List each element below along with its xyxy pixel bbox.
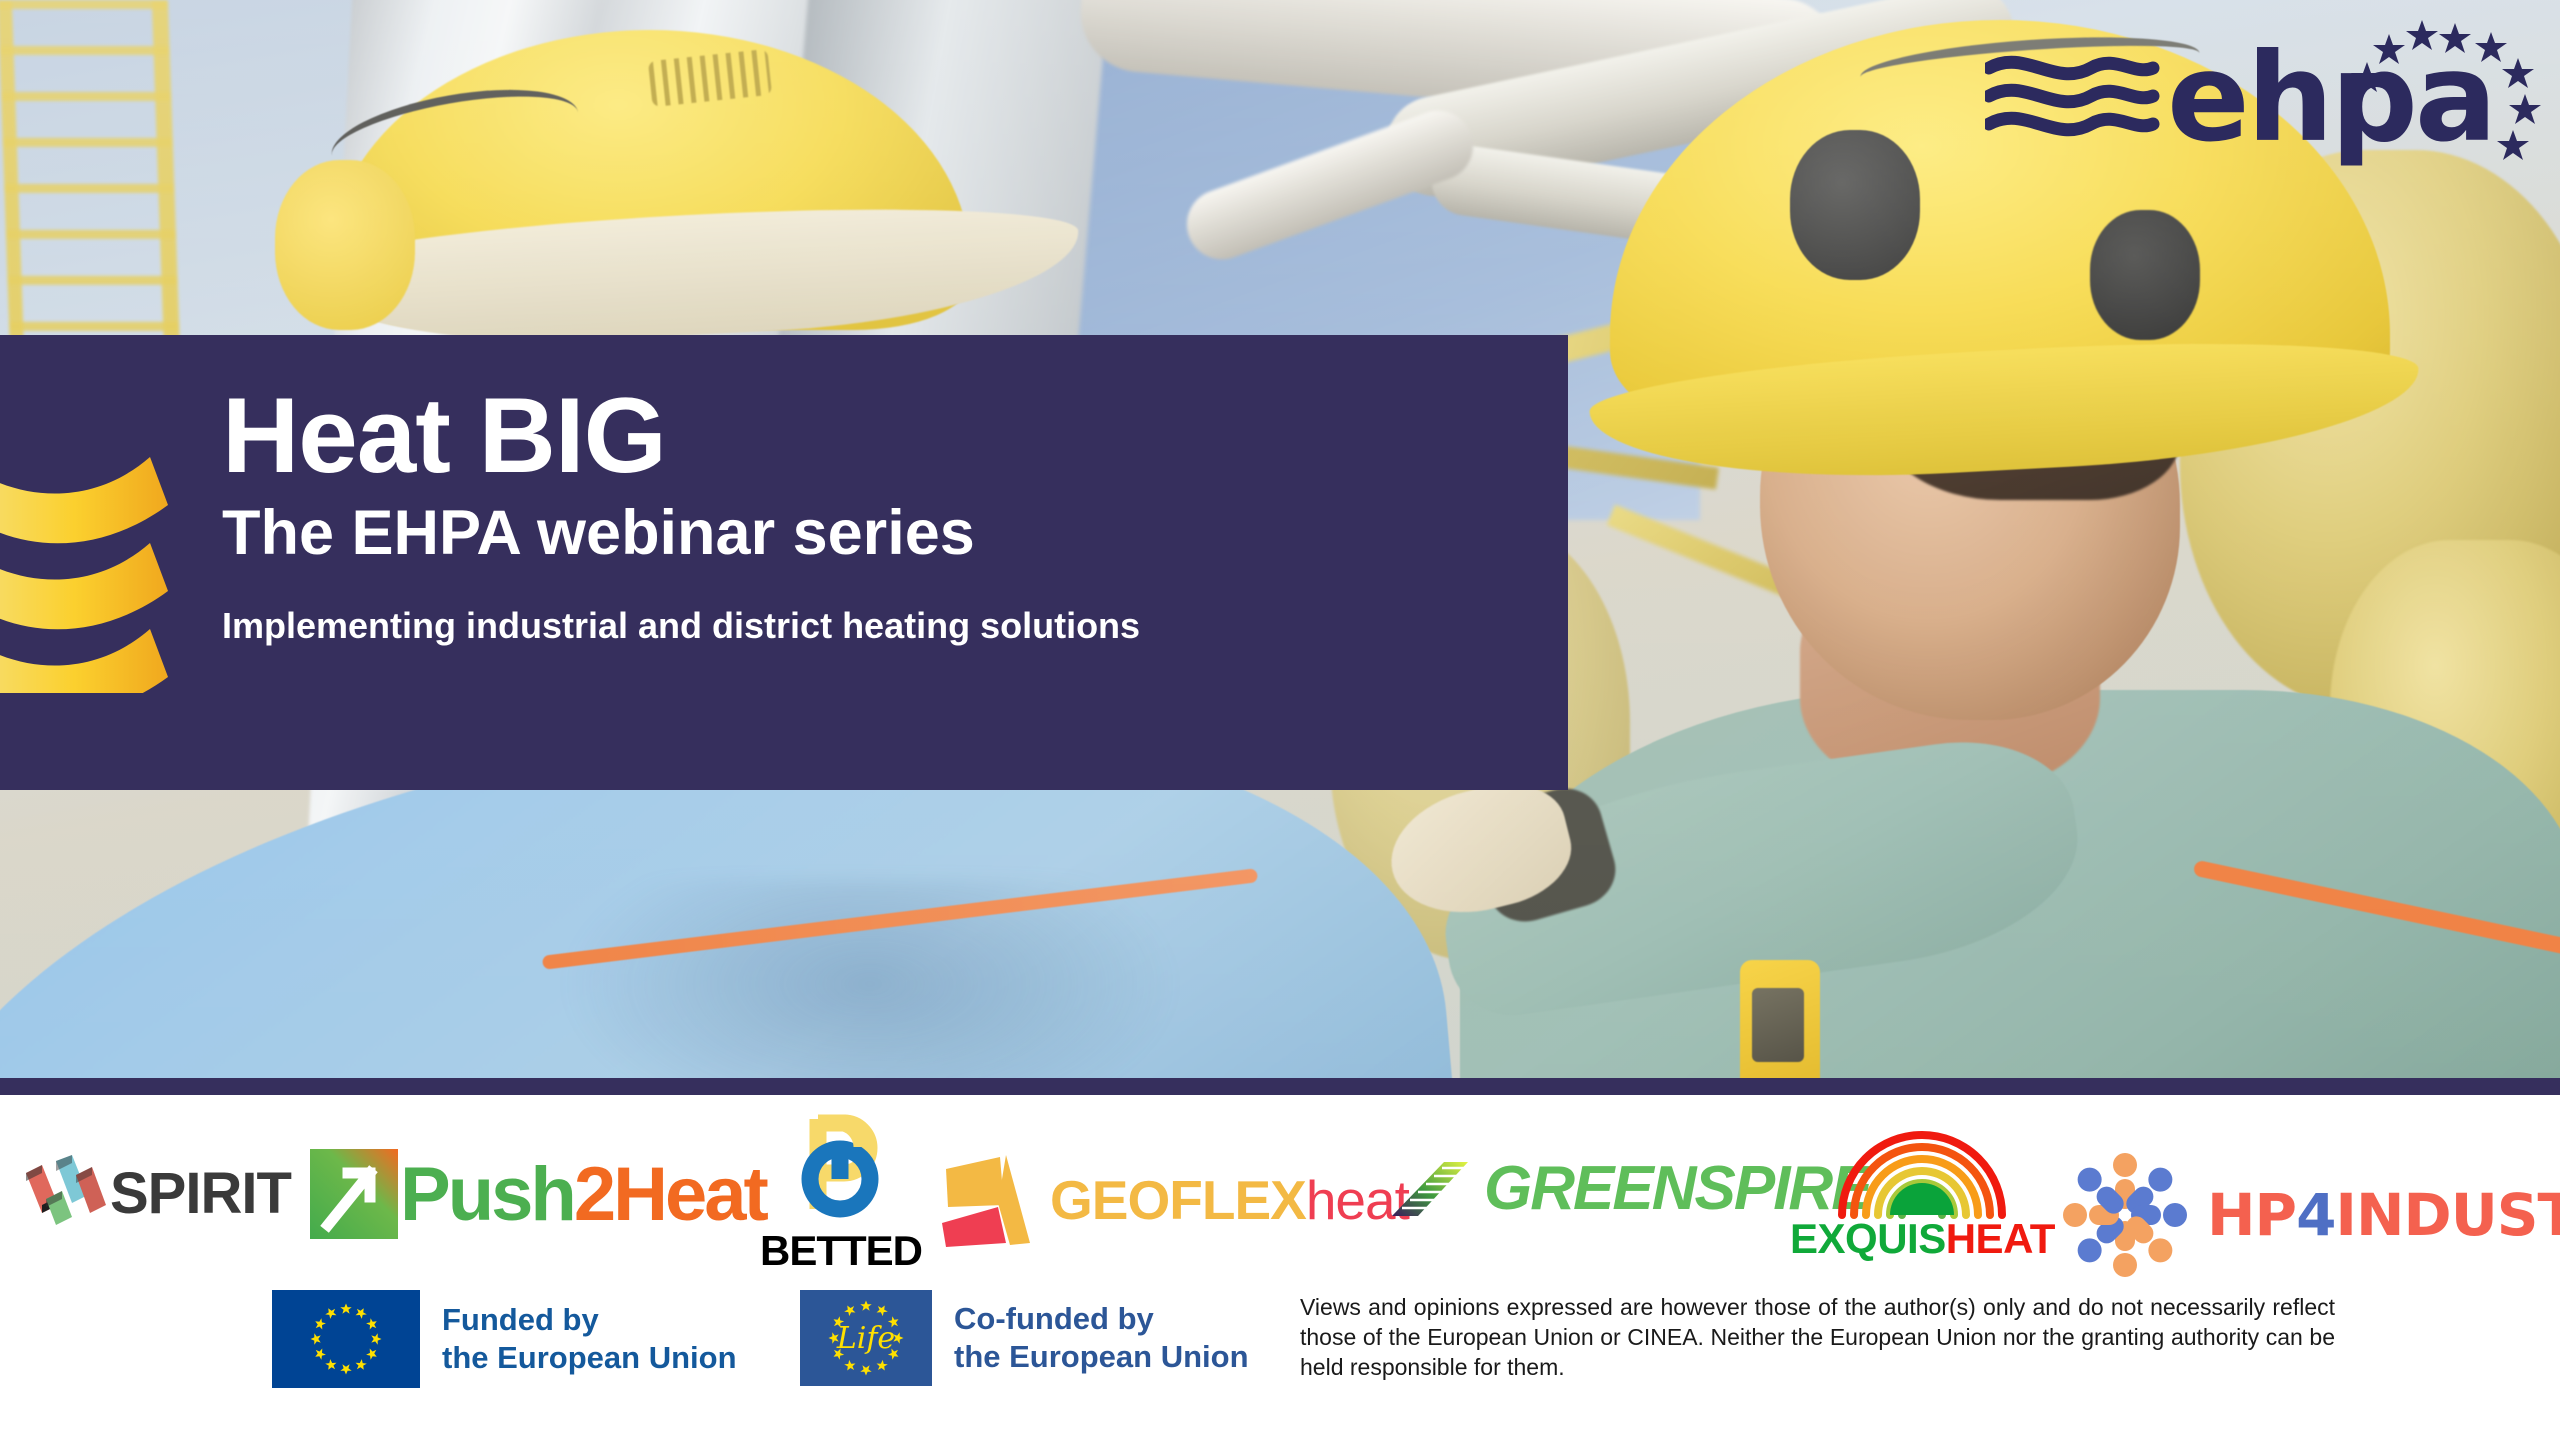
gas-detector-device bbox=[1740, 960, 1820, 1080]
logo-betted[interactable]: BETTED bbox=[760, 1113, 922, 1275]
eu-funded-line1: Funded by bbox=[442, 1301, 737, 1339]
logo-hp4-text-b: 4 bbox=[2296, 1181, 2335, 1249]
push2heat-arrow-icon bbox=[308, 1147, 400, 1241]
ehpa-wordmark: ehpa bbox=[2167, 27, 2494, 168]
eu-disclaimer-text: Views and opinions expressed are however… bbox=[1300, 1293, 2335, 1383]
wave-mark-svg bbox=[0, 443, 185, 693]
ear-muff-back bbox=[2090, 210, 2200, 340]
eu-flag-icon bbox=[272, 1290, 420, 1388]
eu-cofunded-text: Co-funded by the European Union bbox=[954, 1300, 1249, 1376]
page-title: Heat BIG bbox=[222, 381, 1522, 490]
logo-hp4industry[interactable]: HP4INDUSTRY bbox=[2055, 1145, 2560, 1285]
page-subtitle: The EHPA webinar series bbox=[222, 500, 1522, 566]
logo-hp4-text-a: HP bbox=[2207, 1181, 2296, 1249]
eu-funded-badge: Funded by the European Union bbox=[272, 1290, 737, 1388]
geoflex-shape-icon bbox=[940, 1151, 1036, 1249]
partner-logo-strip: SPIRIT Push2Heat bbox=[0, 1105, 2560, 1275]
page-tagline: Implementing industrial and district hea… bbox=[222, 604, 1522, 647]
title-text-group: Heat BIG The EHPA webinar series Impleme… bbox=[222, 381, 1522, 647]
heat-big-wave-mark bbox=[0, 443, 185, 693]
eu-cofunded-badge: Life Co-funded by the European Union bbox=[800, 1290, 1249, 1386]
logo-spirit-text: SPIRIT bbox=[110, 1160, 291, 1227]
footer-separator-bar bbox=[0, 1078, 2560, 1095]
footer: SPIRIT Push2Heat bbox=[0, 1095, 2560, 1440]
title-panel: Heat BIG The EHPA webinar series Impleme… bbox=[0, 335, 1568, 790]
logo-spirit[interactable]: SPIRIT bbox=[18, 1153, 291, 1233]
eu-life-flag-stars: Life bbox=[800, 1290, 932, 1386]
logo-push2heat[interactable]: Push2Heat bbox=[308, 1147, 766, 1241]
ehpa-logo-svg: ehpa bbox=[1985, 18, 2545, 168]
logo-hp4-text-c: INDUSTRY bbox=[2335, 1181, 2560, 1249]
ear-muff-front bbox=[1790, 130, 1920, 280]
hard-hat-left-earmuff bbox=[275, 160, 415, 330]
eu-funded-line2: the European Union bbox=[442, 1339, 737, 1377]
eu-flag-stars bbox=[272, 1290, 420, 1388]
eu-cofunded-line1: Co-funded by bbox=[954, 1300, 1249, 1338]
ehpa-wave-icon bbox=[1989, 62, 2153, 130]
eu-cofunded-line2: the European Union bbox=[954, 1338, 1249, 1376]
logo-push2heat-text-a: Push bbox=[400, 1151, 574, 1238]
eu-life-flag-icon: Life bbox=[800, 1290, 932, 1386]
foreground-shoulder-shading bbox=[560, 880, 1180, 1080]
ehpa-logo[interactable]: ehpa bbox=[1985, 18, 2545, 168]
logo-exquisheat-text-a: EXQUIS bbox=[1790, 1215, 1946, 1263]
betted-b-icon bbox=[788, 1113, 894, 1225]
life-script-word: Life bbox=[836, 1321, 895, 1356]
spirit-blocks-icon bbox=[18, 1153, 110, 1233]
exquisheat-rainbow-icon bbox=[1832, 1115, 2012, 1219]
logo-exquisheat[interactable]: EXQUISHEAT bbox=[1790, 1115, 2055, 1263]
greenspire-wedge-icon bbox=[1390, 1158, 1470, 1220]
logo-push2heat-text-b: 2Heat bbox=[574, 1151, 766, 1238]
hp4industry-people-icon bbox=[2055, 1145, 2195, 1285]
logo-exquisheat-text-b: HEAT bbox=[1946, 1215, 2055, 1263]
logo-betted-text: BETTED bbox=[760, 1227, 922, 1275]
logo-geoflex-text-a: GEOFLEX bbox=[1050, 1168, 1306, 1232]
eu-funded-text: Funded by the European Union bbox=[442, 1301, 737, 1377]
logo-geoflexheat[interactable]: GEOFLEXheat bbox=[940, 1151, 1409, 1249]
